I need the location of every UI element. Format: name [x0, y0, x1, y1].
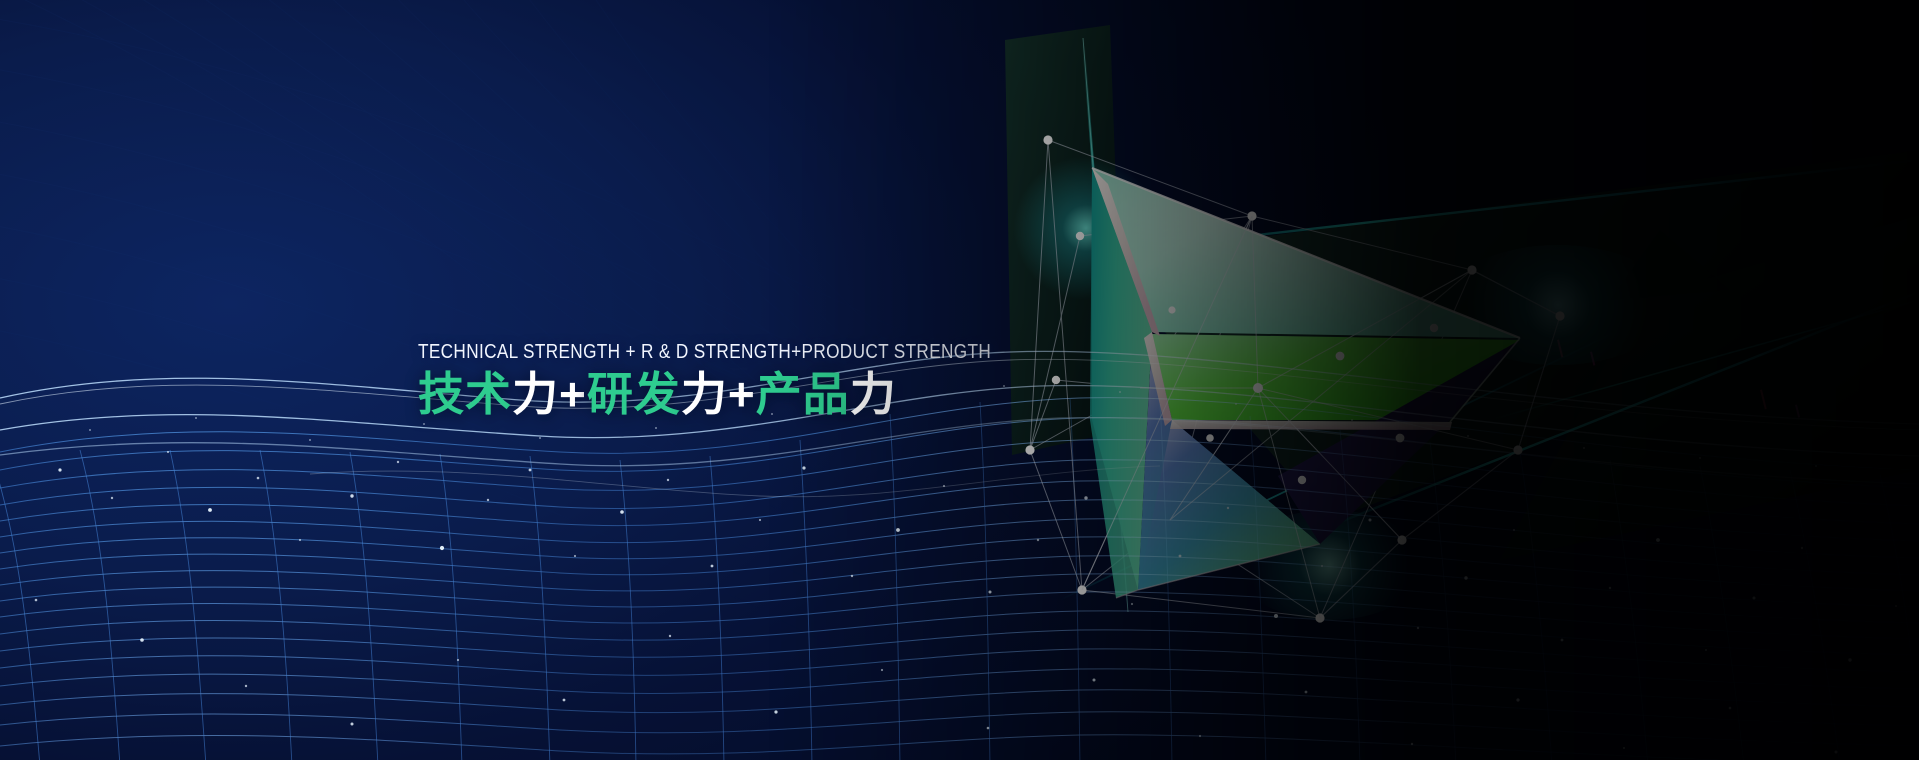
network-node-center: [1253, 383, 1263, 393]
logo-3d-arrow: [1020, 120, 1580, 640]
headline-block: TECHNICAL STRENGTH + R & D STRENGTH+PROD…: [418, 340, 1038, 420]
headline-cn-seg-2: 力+: [512, 368, 587, 420]
headline-cn-seg-4: 力+: [681, 368, 756, 420]
network-node: [1430, 324, 1438, 332]
headline-english: TECHNICAL STRENGTH + R & D STRENGTH+PROD…: [418, 340, 951, 364]
network-node: [1336, 352, 1345, 361]
network-node: [1168, 306, 1175, 313]
network-node: [1076, 232, 1084, 240]
network-node: [1043, 135, 1052, 144]
network-node: [1396, 434, 1405, 443]
hero-banner: TECHNICAL STRENGTH + R & D STRENGTH+PROD…: [0, 0, 1919, 760]
headline-chinese: 技术力+研发力+产品力: [418, 368, 1038, 420]
network-node: [1298, 476, 1306, 484]
network-node: [1025, 445, 1034, 454]
network-node: [1206, 434, 1214, 442]
headline-cn-seg-6: 力: [850, 368, 897, 420]
headline-cn-seg-5: 产品: [756, 368, 850, 420]
network-node: [1052, 376, 1060, 384]
network-node: [1555, 311, 1564, 320]
headline-cn-seg-1: 技术: [418, 368, 512, 420]
headline-cn-seg-3: 研发: [587, 368, 681, 420]
